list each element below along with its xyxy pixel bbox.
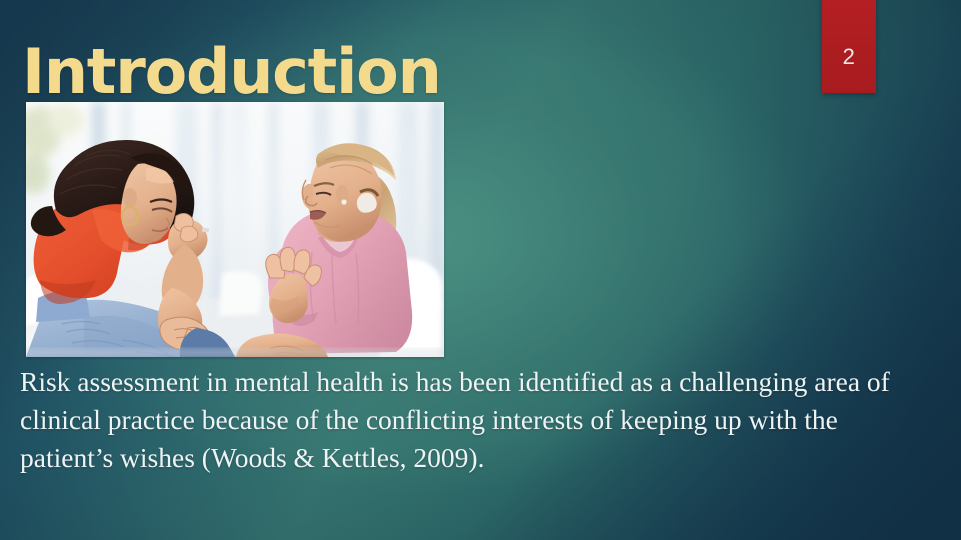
photo-illustration [26, 102, 444, 357]
slide-photo [26, 102, 444, 357]
slide-body-text: Risk assessment in mental health is has … [20, 363, 900, 477]
page-number-label: 2 [822, 44, 876, 70]
presentation-slide: 2 Introduction [0, 0, 961, 540]
page-number-badge: 2 [822, 0, 876, 93]
slide-title: Introduction [22, 41, 441, 103]
